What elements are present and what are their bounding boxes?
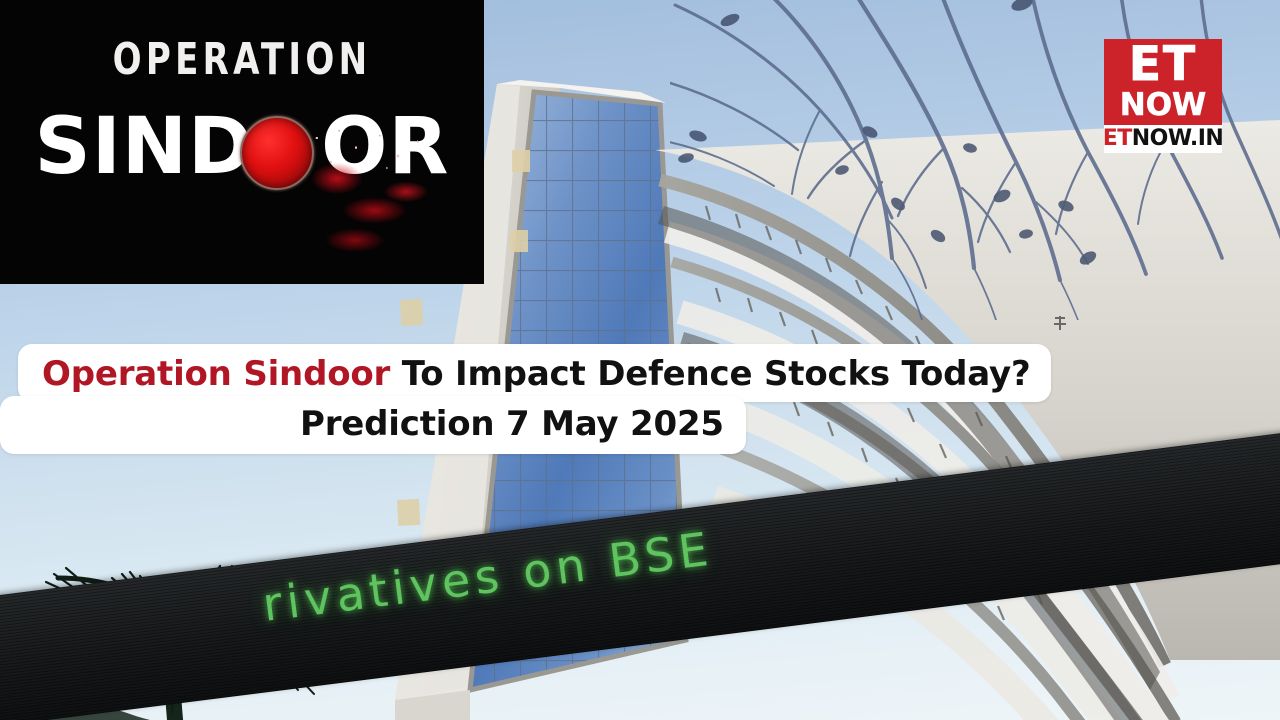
etnow-logo-url: ETNOW.IN [1104, 125, 1222, 153]
headline-line-1: Operation Sindoor To Impact Defence Stoc… [18, 344, 1051, 402]
headline-line-2: Prediction 7 May 2025 [0, 396, 746, 454]
sindoor-powder-specks [300, 120, 440, 180]
operation-word: OPERATION [34, 34, 450, 85]
news-card-canvas: rivatives on BSE OPERATION SINDOOR ET NO… [0, 0, 1280, 720]
etnow-logo-mid: NOW [1104, 88, 1222, 125]
etnow-logo-now: NOW [1120, 90, 1207, 121]
etnow-url-et: ET [1103, 126, 1132, 151]
headline-accent: Operation Sindoor [42, 354, 390, 394]
etnow-logo[interactable]: ET NOW ETNOW.IN [1104, 39, 1222, 153]
etnow-url-now: NOW.IN [1132, 126, 1224, 151]
operation-sindoor-graphic: OPERATION SINDOOR [0, 0, 484, 284]
etnow-logo-et: ET [1129, 43, 1197, 86]
headline-line-1-rest: To Impact Defence Stocks Today? [390, 354, 1030, 394]
headline-block: Operation Sindoor To Impact Defence Stoc… [0, 344, 1060, 454]
sindoor-prefix: SIND [35, 102, 254, 192]
etnow-logo-top: ET [1104, 39, 1222, 88]
